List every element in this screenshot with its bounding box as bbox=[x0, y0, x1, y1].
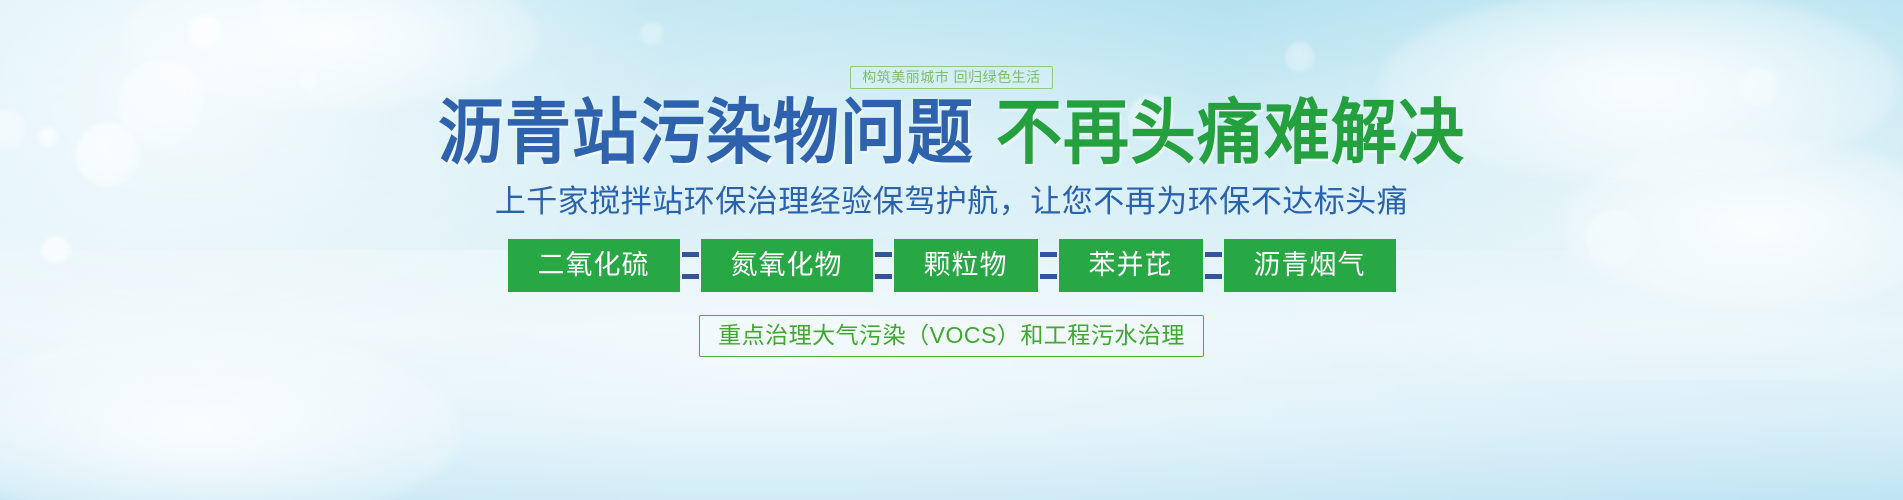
tick-mark-icon bbox=[875, 252, 892, 257]
subheadline: 上千家搅拌站环保治理经验保驾护航，让您不再为环保不达标头痛 bbox=[495, 185, 1409, 219]
headline-green-text: 不再头痛难解决 bbox=[996, 98, 1465, 169]
pollutant-tag-5[interactable]: 沥青烟气 bbox=[1224, 239, 1396, 292]
tick-mark-icon bbox=[1040, 252, 1057, 257]
tick-mark-icon bbox=[1040, 274, 1057, 279]
headline-blue-text: 沥青站污染物问题 bbox=[438, 98, 974, 169]
tick-mark-icon bbox=[1205, 274, 1222, 279]
hero-banner: 构筑美丽城市 回归绿色生活 沥青站污染物问题 不再头痛难解决 上千家搅拌站环保治… bbox=[0, 0, 1903, 500]
tag-separator-icon bbox=[880, 239, 887, 292]
tick-mark-icon bbox=[682, 274, 699, 279]
pollutant-tag-2[interactable]: 氮氧化物 bbox=[701, 239, 873, 292]
pollutant-tag-3[interactable]: 颗粒物 bbox=[894, 239, 1038, 292]
banner-content: 构筑美丽城市 回归绿色生活 沥青站污染物问题 不再头痛难解决 上千家搅拌站环保治… bbox=[0, 0, 1903, 500]
tag-separator-icon bbox=[687, 239, 694, 292]
tagline-badge: 构筑美丽城市 回归绿色生活 bbox=[850, 66, 1052, 89]
tick-mark-icon bbox=[875, 274, 892, 279]
footer-note-badge: 重点治理大气污染（VOCS）和工程污水治理 bbox=[699, 315, 1204, 357]
tick-mark-icon bbox=[1205, 252, 1222, 257]
tag-separator-icon bbox=[1045, 239, 1052, 292]
headline: 沥青站污染物问题 不再头痛难解决 bbox=[438, 103, 1465, 169]
tick-mark-icon bbox=[682, 252, 699, 257]
tag-separator-icon bbox=[1210, 239, 1217, 292]
pollutant-tag-row: 二氧化硫 氮氧化物 颗粒物 苯并芘 沥青烟气 bbox=[508, 239, 1396, 292]
pollutant-tag-1[interactable]: 二氧化硫 bbox=[508, 239, 680, 292]
pollutant-tag-4[interactable]: 苯并芘 bbox=[1059, 239, 1203, 292]
